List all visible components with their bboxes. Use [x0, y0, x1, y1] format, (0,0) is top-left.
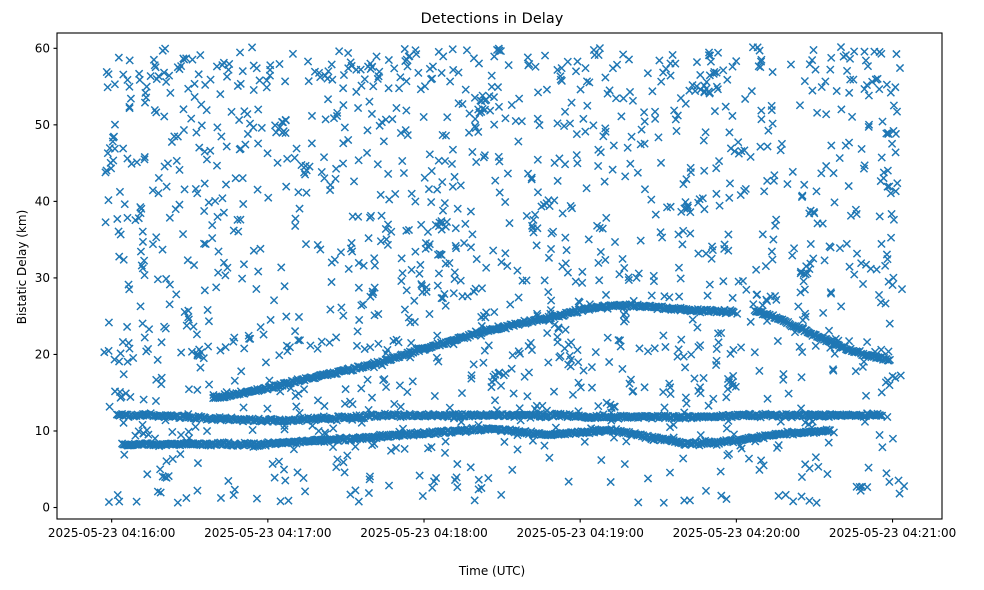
x-axis-label: Time (UTC) — [0, 564, 984, 578]
y-tick-label: 0 — [42, 501, 50, 515]
x-tick-label: 2025-05-23 04:16:00 — [48, 526, 175, 540]
x-tick-label: 2025-05-23 04:21:00 — [829, 526, 956, 540]
y-tick-label: 20 — [35, 348, 50, 362]
y-tick-label: 40 — [35, 195, 50, 209]
y-axis-label: Bistatic Delay (km) — [15, 187, 29, 347]
x-tick-label: 2025-05-23 04:17:00 — [204, 526, 331, 540]
y-tick-label: 10 — [35, 424, 50, 438]
x-tick-label: 2025-05-23 04:20:00 — [673, 526, 800, 540]
scatter-plot: 2025-05-23 04:16:002025-05-23 04:17:0020… — [0, 0, 984, 590]
x-tick-label: 2025-05-23 04:18:00 — [360, 526, 487, 540]
x-tick-label: 2025-05-23 04:19:00 — [516, 526, 643, 540]
y-tick-label: 30 — [35, 271, 50, 285]
y-tick-label: 50 — [35, 118, 50, 132]
figure: Detections in Delay 2025-05-23 04:16:002… — [0, 0, 984, 590]
y-tick-label: 60 — [35, 42, 50, 56]
